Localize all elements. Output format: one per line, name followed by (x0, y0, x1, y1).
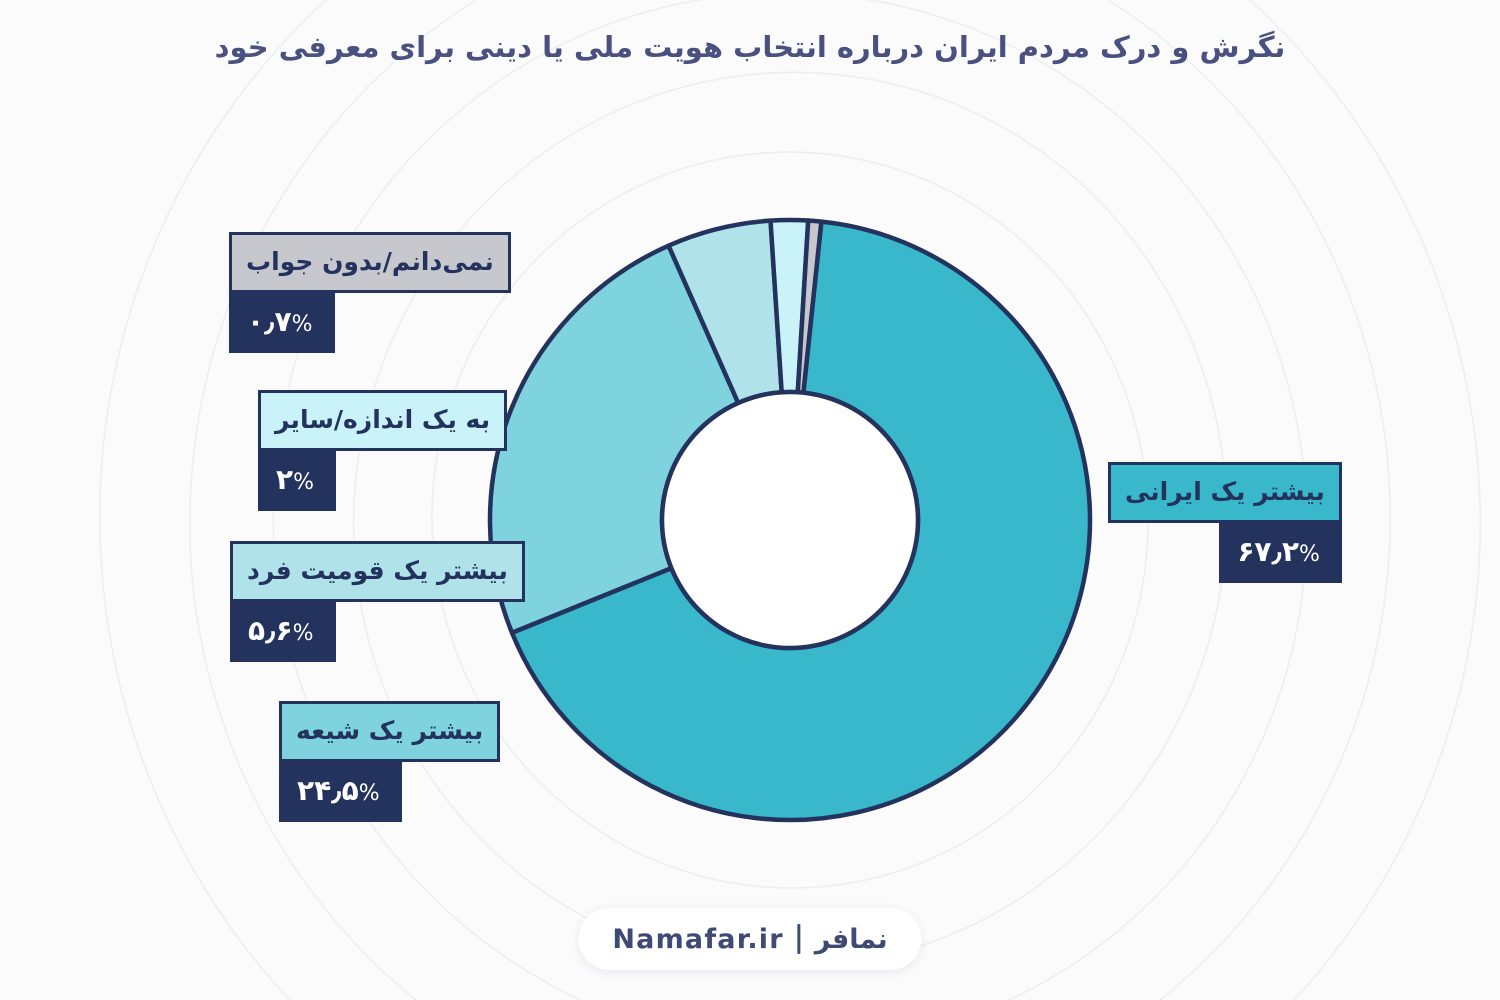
callout-dontknow-value: ۰٫۷% (229, 293, 335, 353)
brand-name-en: Namafar.ir (612, 924, 783, 955)
page-title: نگرش و درک مردم ایران درباره انتخاب هویت… (0, 26, 1500, 68)
callout-iranian-value: ۶۷٫۲% (1219, 523, 1342, 583)
callout-equal-other-value: ۲% (258, 451, 336, 511)
donut-chart-svg (485, 215, 1095, 825)
percent-sign: % (292, 312, 313, 337)
callout-ethnicity-value: ۵٫۶% (230, 602, 336, 662)
donut-center-hole (662, 392, 918, 648)
divider (798, 924, 801, 954)
brand-name-fa: نمافر (815, 924, 888, 955)
callout-equal-other-label: به یک اندازه/سایر (258, 390, 507, 451)
percent-sign: % (293, 470, 314, 495)
callout-shia-number: ۲۴٫۵ (297, 774, 359, 807)
callout-equal-other[interactable]: به یک اندازه/سایر ۲% (258, 390, 507, 511)
callout-shia-label: بیشتر یک شیعه (279, 701, 500, 762)
callout-dontknow-label: نمی‌دانم/بدون جواب (229, 232, 511, 293)
callout-ethnicity-number: ۵٫۶ (248, 614, 293, 647)
percent-sign: % (1299, 542, 1320, 567)
donut-chart (485, 215, 1095, 825)
callout-iranian-number: ۶۷٫۲ (1237, 535, 1299, 568)
infographic-canvas: نگرش و درک مردم ایران درباره انتخاب هویت… (0, 0, 1500, 1000)
percent-sign: % (359, 781, 380, 806)
percent-sign: % (293, 621, 314, 646)
callout-dontknow[interactable]: نمی‌دانم/بدون جواب ۰٫۷% (229, 232, 511, 353)
callout-dontknow-number: ۰٫۷ (247, 305, 292, 338)
callout-ethnicity-label: بیشتر یک قومیت فرد (230, 541, 525, 602)
callout-shia-value: ۲۴٫۵% (279, 762, 402, 822)
callout-iranian-label: بیشتر یک ایرانی (1108, 462, 1342, 523)
callout-iranian[interactable]: بیشتر یک ایرانی ۶۷٫۲% (1108, 462, 1342, 583)
callout-ethnicity[interactable]: بیشتر یک قومیت فرد ۵٫۶% (230, 541, 525, 662)
callout-shia[interactable]: بیشتر یک شیعه ۲۴٫۵% (279, 701, 500, 822)
footer-brand-logo[interactable]: نمافر Namafar.ir (578, 908, 921, 970)
callout-equal-other-number: ۲ (276, 463, 293, 496)
